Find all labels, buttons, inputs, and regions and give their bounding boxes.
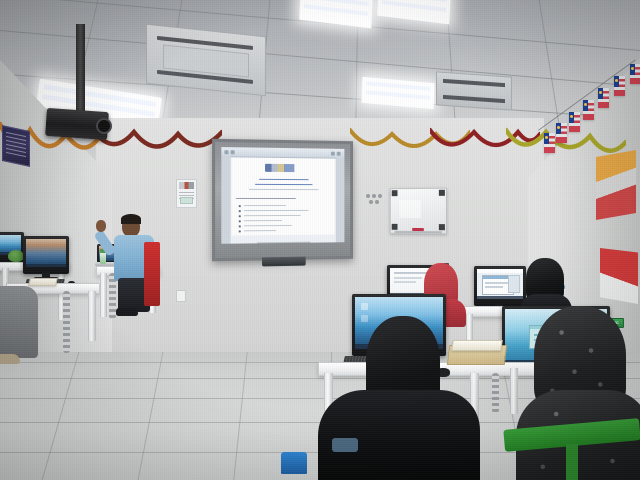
ceiling-light-panel-top-right (377, 0, 451, 24)
desk-leg (88, 291, 96, 341)
bunting-flag (544, 133, 555, 153)
wall-banner-poster-lower (600, 248, 638, 304)
blue-stool[interactable] (281, 452, 307, 474)
cable-management-spine (492, 373, 499, 413)
wall-mounted-dot-plaque (366, 194, 382, 207)
wall-information-poster (176, 179, 197, 208)
browser-scrollbar-right[interactable] (336, 158, 345, 243)
student-black-hijab (312, 316, 480, 480)
projected-browser-window (221, 147, 344, 244)
black-hijab-shoulders (318, 390, 480, 480)
wall-whiteboard[interactable] (390, 188, 447, 235)
instructor-raised-hand (96, 220, 106, 232)
monitor-right-far[interactable] (474, 266, 526, 306)
foreground-person-foot (0, 354, 20, 364)
wall-banner-poster-upper (596, 150, 636, 220)
ceiling-ac-unit-right (436, 71, 512, 110)
desk-leg (100, 273, 107, 317)
projector-mount-pole (76, 24, 85, 116)
bunting-flag (556, 123, 567, 143)
ceiling-light-panel-top-left (299, 0, 373, 28)
potted-plant (8, 250, 24, 262)
foreground-person-body (0, 286, 38, 358)
classroom-photo: PC PC (0, 0, 640, 480)
bunting-flag (598, 88, 609, 108)
student-patterned-hijab (516, 306, 640, 480)
wall-power-outlet (176, 290, 186, 302)
bunting-flag (630, 64, 640, 84)
green-water-bottle (100, 252, 106, 264)
projector-lens (96, 118, 112, 134)
instructor-red-chair[interactable] (144, 242, 160, 306)
whiteboard-tray (395, 231, 442, 233)
wall-notice-plaque (2, 125, 30, 167)
bunting-flag (614, 76, 625, 96)
organisation-crest-banner (265, 164, 306, 172)
cable-management-spine (63, 291, 70, 353)
instructor (108, 216, 172, 328)
ceiling-light-panel-centre (362, 77, 435, 109)
instructor-shoe (116, 308, 138, 316)
browser-scrollbar-left[interactable] (221, 156, 230, 244)
projection-screen[interactable] (212, 139, 353, 262)
screen-wall-mount (262, 257, 305, 267)
instructor-hair (121, 214, 141, 224)
ceiling-ac-unit (146, 24, 266, 97)
bunting-flag (569, 112, 580, 132)
paper-stack-left (28, 278, 58, 286)
foreground-left-person (0, 286, 60, 380)
blue-collar-glimpse (332, 438, 358, 452)
projected-page-body (232, 157, 335, 235)
bunting-flag (583, 100, 594, 120)
green-chair-back-post (566, 444, 578, 480)
